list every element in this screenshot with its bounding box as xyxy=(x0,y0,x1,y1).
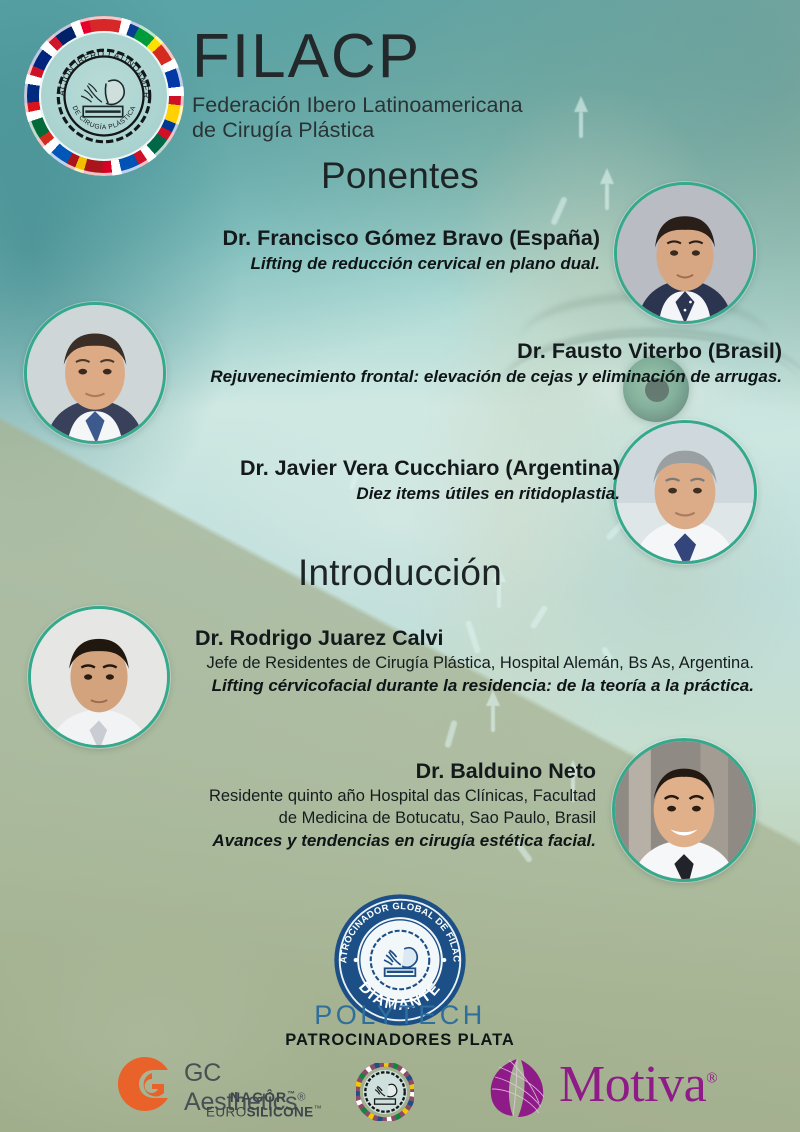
eurosilicone-label: EUROSILICONE™ xyxy=(206,1104,322,1120)
speaker-name: Dr. Balduino Neto xyxy=(0,758,596,785)
filacp-mini-icon xyxy=(356,1063,414,1121)
gc-aesthetics-logo: GC Aesthetics® NAGÔR™ EUROSILICONE™ xyxy=(112,1053,327,1123)
speaker-affiliation-line-1: Residente quinto año Hospital das Clínic… xyxy=(0,785,596,807)
portrait-balduino-neto xyxy=(612,738,756,882)
conference-poster: FEDERACIÓN IBERO LATINOAMERICANA DE CIRU… xyxy=(0,0,800,1132)
federation-line-2: de Cirugía Plástica xyxy=(192,118,523,143)
speaker-talk: Diez items útiles en ritidoplastia. xyxy=(0,482,620,505)
motiva-logo: Motiva® xyxy=(487,1057,717,1121)
acronym-title: FILACP xyxy=(192,26,523,88)
filacp-mini-logo xyxy=(356,1063,414,1121)
introduction-heading: Introducción xyxy=(0,552,800,594)
motiva-mark-icon xyxy=(487,1057,551,1119)
speaker-entry: Dr. Fausto Viterbo (Brasil) Rejuvenecimi… xyxy=(0,338,782,388)
speaker-entry: Dr. Javier Vera Cucchiaro (Argentina) Di… xyxy=(0,455,620,505)
filacp-emblem-icon: FEDERACIÓN IBERO LATINOAMERICANA DE CIRU… xyxy=(52,44,156,148)
filacp-logo: FEDERACIÓN IBERO LATINOAMERICANA DE CIRU… xyxy=(24,16,184,176)
speaker-name: Dr. Francisco Gómez Bravo (España) xyxy=(0,225,600,252)
speaker-talk: Rejuvenecimiento frontal: elevación de c… xyxy=(0,365,782,388)
speaker-affiliation: Jefe de Residentes de Cirugía Plástica, … xyxy=(0,652,754,674)
speaker-name: Dr. Rodrigo Juarez Calvi xyxy=(195,625,754,652)
speaker-name: Dr. Javier Vera Cucchiaro (Argentina) xyxy=(0,455,620,482)
title-block: FILACP Federación Ibero Latinoamericana … xyxy=(192,26,523,143)
speaker-entry: Dr. Francisco Gómez Bravo (España) Lifti… xyxy=(0,225,600,275)
motiva-wordmark: Motiva® xyxy=(559,1055,717,1114)
nagor-label: NAGÔR™ xyxy=(230,1089,296,1105)
speaker-affiliation-line-2: de Medicina de Botucatu, Sao Paulo, Bras… xyxy=(0,807,596,829)
speaker-talk: Lifting de reducción cervical en plano d… xyxy=(0,252,600,275)
polytech-wordmark: POLYTECH xyxy=(0,1000,800,1031)
speaker-name: Dr. Fausto Viterbo (Brasil) xyxy=(0,338,782,365)
gc-aesthetics-mark-icon xyxy=(112,1053,178,1115)
silver-sponsors-heading: PATROCINADORES PLATA xyxy=(0,1031,800,1050)
portrait-francisco-gomez-bravo xyxy=(614,182,756,324)
introduction-entry: Dr. Rodrigo Juarez Calvi Jefe de Residen… xyxy=(0,625,754,697)
federation-line-1: Federación Ibero Latinoamericana xyxy=(192,93,523,118)
introduction-entry: Dr. Balduino Neto Residente quinto año H… xyxy=(0,758,596,852)
speaker-talk: Lifting cérvicofacial durante la residen… xyxy=(0,674,754,697)
portrait-javier-vera-cucchiaro xyxy=(613,420,757,564)
speaker-talk: Avances y tendencias en cirugía estética… xyxy=(0,829,596,852)
